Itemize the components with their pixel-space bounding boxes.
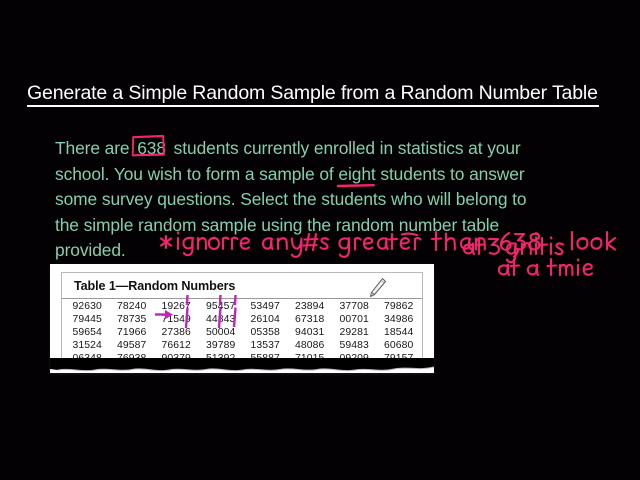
body-line-2-pre: school. You wish to form a sample of: [55, 164, 338, 184]
table-cell: 26104: [243, 314, 288, 327]
body-paragraph: There are 638 students currently enrolle…: [55, 136, 605, 264]
table-cell: 92630: [65, 301, 110, 314]
table-cell: 27386: [154, 327, 199, 340]
body-line-2-post: students to answer: [376, 164, 525, 184]
table-cell: 31524: [65, 340, 110, 353]
table-cell: 48086: [288, 340, 333, 353]
table-cell: 79862: [377, 301, 422, 314]
table-inner-frame: Table 1—Random Numbers 92630 78240 19267…: [61, 272, 423, 360]
body-line-3: some survey questions. Select the studen…: [55, 187, 605, 213]
sample-size-underlined: eight: [338, 164, 375, 184]
table-header-rule: [62, 298, 422, 299]
table-cell: 59483: [332, 340, 377, 353]
table-cell: 59654: [65, 327, 110, 340]
table-cell: 44843: [199, 314, 244, 327]
table-row: 06348 76938 90379 51392 55887 71015 0920…: [65, 353, 421, 366]
body-line-1-post: students currently enrolled in statistic…: [169, 138, 521, 158]
table-cell: 09209: [332, 353, 377, 366]
table-row: 31524 49587 76612 39789 13537 48086 5948…: [65, 340, 421, 353]
table-title: Table 1—Random Numbers: [74, 279, 235, 293]
table-cell: 53497: [243, 301, 288, 314]
table-cell: 50004: [199, 327, 244, 340]
table-cell: 55887: [243, 353, 288, 366]
table-cell: 29281: [332, 327, 377, 340]
table-cell: 39789: [199, 340, 244, 353]
table-cell: 06348: [65, 353, 110, 366]
body-line-2: school. You wish to form a sample of eig…: [55, 162, 605, 188]
table-cell: 78735: [110, 314, 155, 327]
body-line-5: provided.: [55, 238, 605, 264]
table-cell: 05358: [243, 327, 288, 340]
body-line-4: the simple random sample using the rando…: [55, 213, 605, 239]
slide-canvas: Generate a Simple Random Sample from a R…: [0, 0, 640, 480]
enrollment-count-boxed: 638: [134, 138, 169, 158]
table-cell: 51392: [199, 353, 244, 366]
table-cell: 76938: [110, 353, 155, 366]
random-number-table-card: Table 1—Random Numbers 92630 78240 19267…: [50, 264, 434, 373]
table-cell: 34986: [377, 314, 422, 327]
table-cell: 23894: [288, 301, 333, 314]
enrollment-count-value: 638: [137, 138, 166, 158]
table-cell: 60680: [377, 340, 422, 353]
table-row: 79445 78735 71549 44843 26104 67318 0070…: [65, 314, 421, 327]
title-underline: [27, 105, 599, 107]
table-cell: 78240: [110, 301, 155, 314]
table-cell: 76612: [154, 340, 199, 353]
page-title: Generate a Simple Random Sample from a R…: [27, 82, 611, 105]
table-cell: 71015: [288, 353, 333, 366]
table-cell: 49587: [110, 340, 155, 353]
body-line-1: There are 638 students currently enrolle…: [55, 136, 605, 162]
body-line-1-pre: There are: [55, 138, 134, 158]
table-row: 59654 71966 27386 50004 05358 94031 2928…: [65, 327, 421, 340]
table-cell: 90379: [154, 353, 199, 366]
table-cell: 71549: [154, 314, 199, 327]
table-cell: 18544: [377, 327, 422, 340]
table-cell: 37708: [332, 301, 377, 314]
table-cell: 95457: [199, 301, 244, 314]
table-cell: 67318: [288, 314, 333, 327]
random-number-grid: 92630 78240 19267 95457 53497 23894 3770…: [65, 301, 421, 365]
sample-size-value: eight: [338, 164, 375, 184]
table-cell: 13537: [243, 340, 288, 353]
table-cell: 79445: [65, 314, 110, 327]
table-cell: 00701: [332, 314, 377, 327]
table-cell: 94031: [288, 327, 333, 340]
table-cell: 79157: [377, 353, 422, 366]
table-row: 92630 78240 19267 95457 53497 23894 3770…: [65, 301, 421, 314]
table-cell: 19267: [154, 301, 199, 314]
table-cell: 71966: [110, 327, 155, 340]
